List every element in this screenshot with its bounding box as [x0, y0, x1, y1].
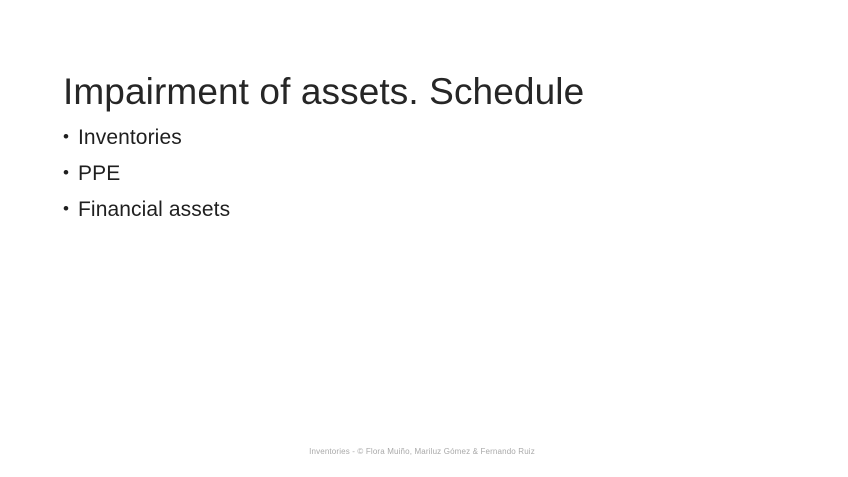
list-item: • Financial assets: [63, 199, 763, 220]
bullet-list: • Inventories • PPE • Financial assets: [63, 127, 763, 235]
list-item: • Inventories: [63, 127, 763, 148]
page-title: Impairment of assets. Schedule: [63, 70, 783, 114]
list-item-label: Inventories: [78, 127, 182, 148]
footer-credit-text: Inventories - © Flora Muiño, Mariluz Góm…: [309, 447, 535, 457]
slide-footer: Inventories - © Flora Muiño, Mariluz Góm…: [0, 447, 848, 457]
bullet-point-icon: •: [63, 127, 78, 147]
presentation-slide: Impairment of assets. Schedule • Invento…: [0, 0, 848, 477]
list-item-label: PPE: [78, 163, 120, 184]
list-item-label: Financial assets: [78, 199, 230, 220]
bullet-point-icon: •: [63, 199, 78, 219]
list-item: • PPE: [63, 163, 763, 184]
bullet-point-icon: •: [63, 163, 78, 183]
